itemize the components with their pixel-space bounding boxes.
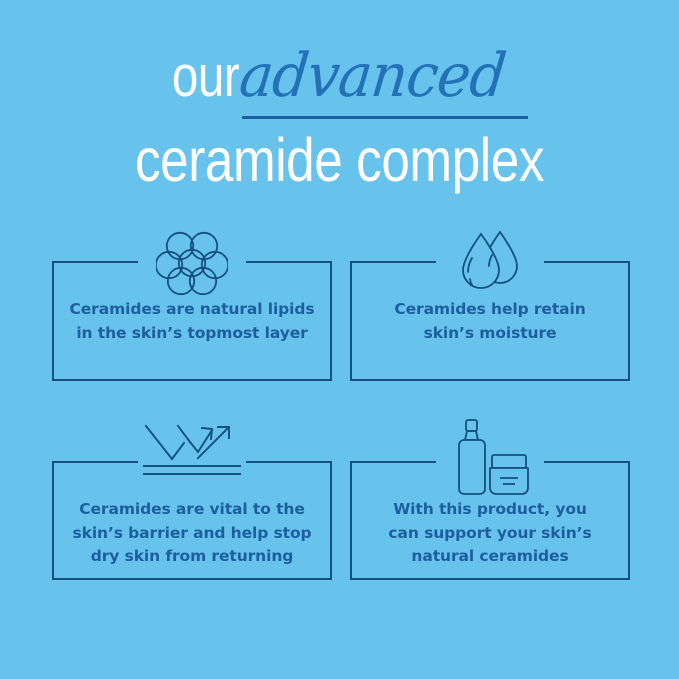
card-text: With this product, you can support your … bbox=[362, 498, 618, 569]
card-text: Ceramides help retain skin’s moisture bbox=[362, 298, 618, 345]
page-headline: ouradvanced ceramide complex bbox=[0, 46, 679, 206]
card-text: Ceramides are natural lipids in the skin… bbox=[64, 298, 320, 345]
card-frame-top-left-stub bbox=[350, 261, 436, 263]
benefit-card-ceramides-skin-barrier: Ceramides are vital to the skin’s barrie… bbox=[52, 418, 332, 580]
card-text-line: skin’s moisture bbox=[362, 322, 618, 346]
headline-word-our: our bbox=[172, 48, 240, 106]
card-text-line: natural ceramides bbox=[362, 545, 618, 569]
card-frame-top-right-stub bbox=[246, 261, 332, 263]
headline-underline-rule bbox=[242, 116, 528, 119]
benefit-card-grid: Ceramides are natural lipids in the skin… bbox=[52, 228, 628, 580]
headline-word-advanced: advanced bbox=[237, 46, 508, 106]
card-frame-top-right-stub bbox=[246, 461, 332, 463]
card-text-line: dry skin from returning bbox=[64, 545, 320, 569]
benefit-card-ceramides-retain-moisture: Ceramides help retain skin’s moisture bbox=[350, 228, 630, 381]
card-text-line: Ceramides are natural lipids bbox=[64, 298, 320, 322]
card-frame-top-right-stub bbox=[544, 461, 630, 463]
card-text-line: skin’s barrier and help stop bbox=[64, 522, 320, 546]
card-frame-top-left-stub bbox=[350, 461, 436, 463]
card-frame-top-left-stub bbox=[52, 461, 138, 463]
benefit-card-support-natural-ceramides: With this product, you can support your … bbox=[350, 418, 630, 580]
skincare-products-icon bbox=[442, 418, 538, 503]
water-droplets-icon bbox=[456, 228, 524, 303]
benefit-card-ceramides-natural-lipids: Ceramides are natural lipids in the skin… bbox=[52, 228, 332, 381]
card-text-line: in the skin’s topmost layer bbox=[64, 322, 320, 346]
card-text-line: Ceramides help retain bbox=[362, 298, 618, 322]
card-text: Ceramides are vital to the skin’s barrie… bbox=[64, 498, 320, 569]
headline-line-1: ouradvanced bbox=[0, 46, 679, 106]
card-frame-top-right-stub bbox=[544, 261, 630, 263]
card-text-line: With this product, you bbox=[362, 498, 618, 522]
card-frame-top-left-stub bbox=[52, 261, 138, 263]
headline-script-wrap: advanced bbox=[240, 46, 522, 106]
barrier-deflect-arrows-icon bbox=[140, 418, 244, 485]
headline-line-2: ceramide complex bbox=[0, 130, 679, 191]
headline-word-ceramide-complex: ceramide complex bbox=[135, 130, 544, 191]
card-text-line: Ceramides are vital to the bbox=[64, 498, 320, 522]
card-text-line: can support your skin’s bbox=[362, 522, 618, 546]
ceramide-cluster-icon bbox=[156, 228, 228, 303]
